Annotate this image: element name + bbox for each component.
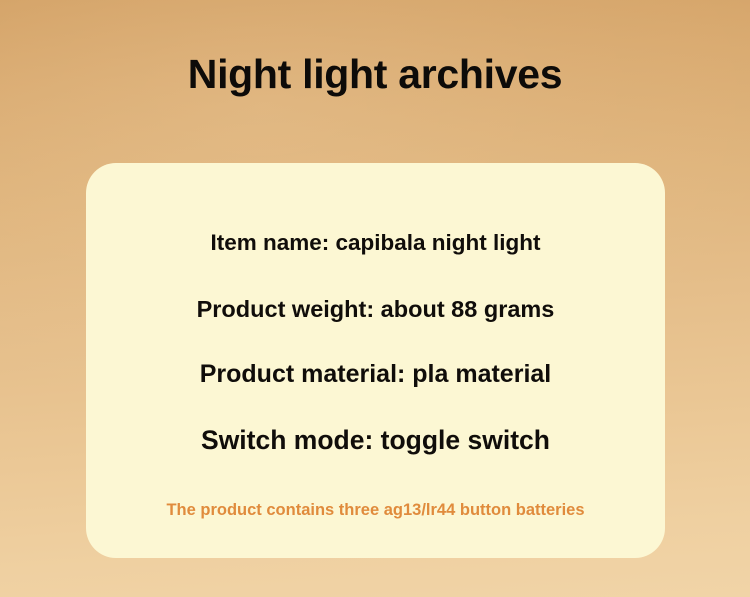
poster-root: Night light archives Item name: capibala… xyxy=(0,0,750,597)
battery-footnote: The product contains three ag13/lr44 but… xyxy=(86,501,665,520)
page-title: Night light archives xyxy=(0,50,750,99)
spec-item-product-material: Product material: pla material xyxy=(86,354,665,420)
spec-item-product-weight: Product weight: about 88 grams xyxy=(86,289,665,354)
spec-item-item-name: Item name: capibala night light xyxy=(86,223,665,289)
spec-card: Item name: capibala night light Product … xyxy=(86,163,665,558)
spec-item-switch-mode: Switch mode: toggle switch xyxy=(86,420,665,482)
spec-list: Item name: capibala night light Product … xyxy=(86,223,665,482)
